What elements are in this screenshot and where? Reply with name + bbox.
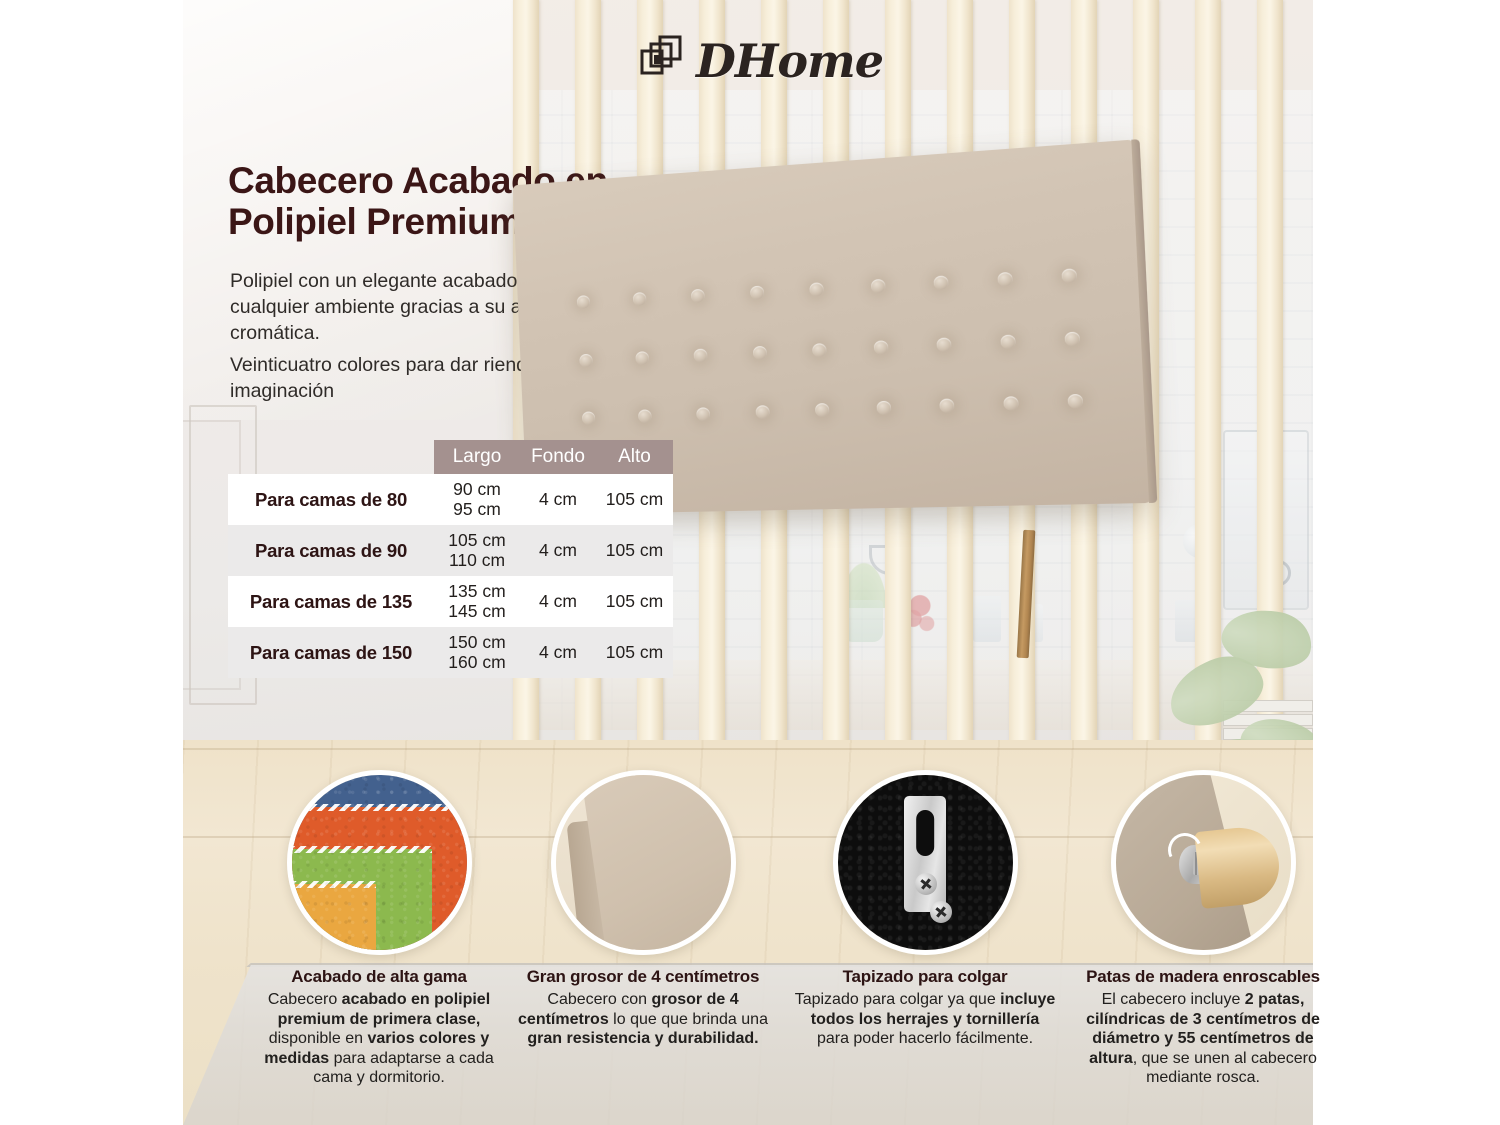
feature-body: Cabecero con grosor de 4 centímetros lo …	[503, 990, 783, 1049]
feature-item-grosor: Gran grosor de 4 centímetros Cabecero co…	[503, 770, 783, 1049]
upholstery-thickness-icon	[551, 770, 736, 955]
brand-logo: DHome	[640, 34, 883, 88]
feature-title: Tapizado para colgar	[785, 967, 1065, 987]
row-label: Para camas de 90	[228, 540, 434, 562]
dimensions-table: Largo Fondo Alto Para camas de 80 90 cm9…	[228, 440, 673, 678]
cell-fondo: 4 cm	[520, 591, 596, 612]
fabric-swatches-icon	[287, 770, 472, 955]
feature-item-patas: Patas de madera enroscables El cabecero …	[1063, 770, 1343, 1088]
screw-in-wooden-leg-icon	[1111, 770, 1296, 955]
cell-largo: 150 cm160 cm	[434, 633, 520, 672]
cell-largo: 105 cm110 cm	[434, 531, 520, 570]
row-label: Para camas de 135	[228, 591, 434, 613]
cell-largo: 135 cm145 cm	[434, 582, 520, 621]
column-header-largo: Largo	[434, 446, 520, 468]
table-row: Para camas de 90 105 cm110 cm 4 cm 105 c…	[228, 525, 673, 576]
feature-item-acabado: Acabado de alta gama Cabecero acabado en…	[239, 770, 519, 1088]
feature-title: Gran grosor de 4 centímetros	[503, 967, 783, 987]
feature-body: Tapizado para colgar ya que incluye todo…	[785, 990, 1065, 1049]
table-row: Para camas de 150 150 cm160 cm 4 cm 105 …	[228, 627, 673, 678]
headboard-leg-right	[1017, 530, 1036, 658]
feature-title: Acabado de alta gama	[239, 967, 519, 987]
feature-title: Patas de madera enroscables	[1063, 967, 1343, 987]
feature-body: El cabecero incluye 2 patas, cilíndricas…	[1063, 990, 1343, 1088]
brand-name: DHome	[696, 34, 883, 88]
infographic-page: DHome Cabecero Acabado en Polipiel Premi…	[0, 0, 1500, 1125]
feature-list: Acabado de alta gama Cabecero acabado en…	[183, 770, 1313, 1125]
table-header-row: Largo Fondo Alto	[434, 440, 673, 474]
cell-fondo: 4 cm	[520, 540, 596, 561]
cell-alto: 105 cm	[596, 540, 673, 561]
cell-largo: 90 cm95 cm	[434, 480, 520, 519]
column-header-fondo: Fondo	[520, 446, 596, 468]
headboard-tufted-buttons	[554, 243, 1111, 448]
cell-alto: 105 cm	[596, 642, 673, 663]
table-row: Para camas de 135 135 cm145 cm 4 cm 105 …	[228, 576, 673, 627]
cell-fondo: 4 cm	[520, 489, 596, 510]
row-label: Para camas de 80	[228, 489, 434, 511]
row-label: Para camas de 150	[228, 642, 434, 664]
column-header-alto: Alto	[596, 446, 673, 468]
cell-alto: 105 cm	[596, 489, 673, 510]
overlapping-squares-logo-icon	[640, 35, 686, 87]
wall-hanging-bracket-icon	[833, 770, 1018, 955]
cell-fondo: 4 cm	[520, 642, 596, 663]
table-row: Para camas de 80 90 cm95 cm 4 cm 105 cm	[228, 474, 673, 525]
feature-item-colgar: Tapizado para colgar Tapizado para colga…	[785, 770, 1065, 1049]
feature-body: Cabecero acabado en polipiel premium de …	[239, 990, 519, 1088]
cell-alto: 105 cm	[596, 591, 673, 612]
